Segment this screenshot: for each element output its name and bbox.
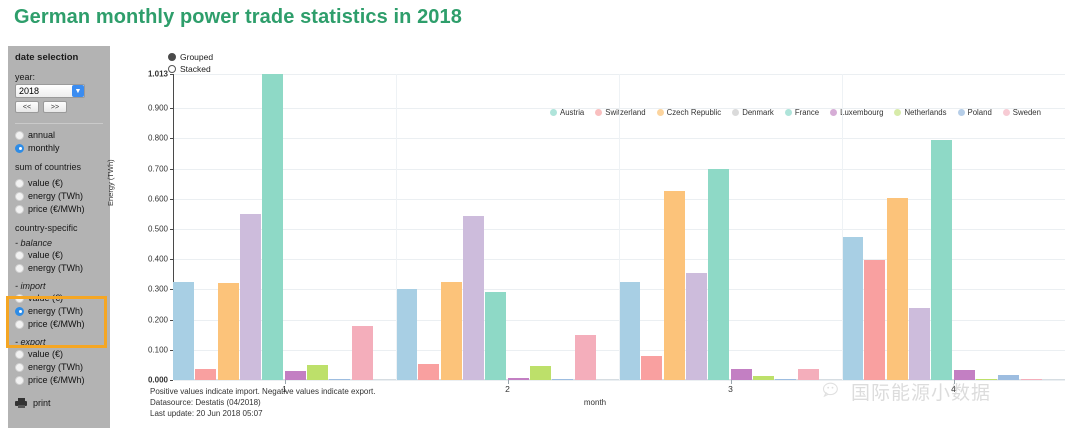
- bar-sweden-m4[interactable]: [1021, 379, 1042, 380]
- y-tick-label: 0.600: [148, 194, 168, 203]
- balance-subtitle: - balance: [15, 238, 103, 248]
- bar-czech-republic-m3[interactable]: [664, 191, 685, 380]
- wechat-icon: [822, 382, 844, 401]
- year-label: year:: [15, 72, 103, 82]
- radio-label: Stacked: [180, 64, 211, 74]
- radio-import-energy[interactable]: energy (TWh): [15, 305, 103, 317]
- radio-icon-selected: [168, 53, 176, 61]
- bar-austria-m4[interactable]: [842, 237, 863, 380]
- radio-sum-energy[interactable]: energy (TWh): [15, 190, 103, 202]
- bar-poland-m1[interactable]: [329, 379, 350, 380]
- radio-label: price (€/MWh): [28, 319, 85, 329]
- x-tick-label: 3: [728, 384, 733, 394]
- bar-group-month-3: 3: [619, 74, 842, 380]
- printer-icon: [15, 398, 27, 408]
- radio-label: price (€/MWh): [28, 204, 85, 214]
- bar-switzerland-m1[interactable]: [195, 369, 216, 380]
- bar-sweden-m2[interactable]: [575, 335, 596, 380]
- bar-poland-m4[interactable]: [998, 375, 1019, 380]
- year-select-wrapper[interactable]: 2018201720162015 ▼: [15, 84, 85, 98]
- radio-sum-value[interactable]: value (€): [15, 177, 103, 189]
- radio-icon-selected: [15, 307, 24, 316]
- y-tick-label: 0.800: [148, 134, 168, 143]
- radio-label: energy (TWh): [28, 306, 83, 316]
- radio-monthly[interactable]: monthly: [15, 142, 103, 154]
- bar-netherlands-m2[interactable]: [530, 366, 551, 380]
- chart-footnotes: Positive values indicate import. Negativ…: [150, 386, 375, 419]
- bar-sweden-m1[interactable]: [352, 326, 373, 380]
- bar-luxembourg-m3[interactable]: [731, 369, 752, 380]
- y-tick-label: 0.000: [148, 376, 168, 385]
- bar-denmark-m3[interactable]: [686, 273, 707, 380]
- bar-austria-m3[interactable]: [619, 282, 640, 380]
- y-tick-mark: [170, 380, 173, 381]
- date-selection-sidebar: date selection year: 2018201720162015 ▼ …: [8, 46, 110, 428]
- import-subtitle: - import: [15, 281, 103, 291]
- bar-france-m2[interactable]: [485, 292, 506, 380]
- radio-icon: [15, 363, 24, 372]
- bar-czech-republic-m1[interactable]: [218, 283, 239, 380]
- divider: [15, 123, 103, 124]
- export-subtitle: - export: [15, 337, 103, 347]
- bar-switzerland-m2[interactable]: [418, 364, 439, 380]
- radio-icon: [15, 376, 24, 385]
- bar-luxembourg-m2[interactable]: [508, 378, 529, 380]
- y-tick-label: 0.200: [148, 315, 168, 324]
- page-title: German monthly power trade statistics in…: [14, 6, 462, 29]
- radio-label: value (€): [28, 349, 63, 359]
- bar-sweden-m3[interactable]: [798, 369, 819, 380]
- watermark-text: 国际能源小数据: [851, 378, 991, 405]
- x-tick-label: 2: [505, 384, 510, 394]
- bar-group-month-4: 4: [842, 74, 1065, 380]
- y-tick-label: 0.100: [148, 345, 168, 354]
- sidebar-title: date selection: [15, 52, 103, 63]
- radio-label: price (€/MWh): [28, 375, 85, 385]
- radio-icon: [15, 179, 24, 188]
- radio-balance-energy[interactable]: energy (TWh): [15, 262, 103, 274]
- radio-icon: [168, 65, 176, 73]
- year-select[interactable]: 2018201720162015: [15, 84, 85, 98]
- radio-label: value (€): [28, 293, 63, 303]
- prev-year-button[interactable]: <<: [15, 101, 39, 113]
- radio-label: monthly: [28, 143, 60, 153]
- radio-icon: [15, 264, 24, 273]
- radio-label: energy (TWh): [28, 362, 83, 372]
- bar-netherlands-m3[interactable]: [753, 376, 774, 380]
- radio-icon-selected: [15, 144, 24, 153]
- y-axis-label: Energy (TWh): [106, 159, 115, 206]
- radio-label: value (€): [28, 250, 63, 260]
- radio-icon: [15, 294, 24, 303]
- radio-label: annual: [28, 130, 55, 140]
- radio-export-value[interactable]: value (€): [15, 348, 103, 360]
- radio-icon: [15, 251, 24, 260]
- radio-balance-value[interactable]: value (€): [15, 249, 103, 261]
- radio-sum-price[interactable]: price (€/MWh): [15, 203, 103, 215]
- bar-denmark-m2[interactable]: [463, 216, 484, 380]
- balance-radio-group: value (€) energy (TWh): [15, 249, 103, 274]
- chart-mode-radio-group: Grouped Stacked: [168, 51, 213, 75]
- export-radio-group: value (€) energy (TWh) price (€/MWh): [15, 348, 103, 386]
- bar-austria-m2[interactable]: [396, 289, 417, 380]
- x-gridline: [842, 74, 843, 380]
- print-label: print: [33, 398, 51, 408]
- y-tick-label: 0.300: [148, 285, 168, 294]
- bar-group-month-1: 1: [173, 74, 396, 380]
- radio-icon: [15, 320, 24, 329]
- radio-import-price[interactable]: price (€/MWh): [15, 318, 103, 330]
- import-radio-group: value (€) energy (TWh) price (€/MWh): [15, 292, 103, 330]
- radio-icon: [15, 131, 24, 140]
- radio-label: energy (TWh): [28, 263, 83, 273]
- y-tick-label: 1.013: [148, 70, 168, 79]
- bar-czech-republic-m4[interactable]: [887, 198, 908, 380]
- print-button[interactable]: print: [15, 398, 103, 408]
- bar-france-m4[interactable]: [931, 140, 952, 380]
- radio-import-value[interactable]: value (€): [15, 292, 103, 304]
- bar-poland-m2[interactable]: [552, 379, 573, 380]
- bar-denmark-m4[interactable]: [909, 308, 930, 380]
- bar-switzerland-m3[interactable]: [641, 356, 662, 380]
- bar-denmark-m1[interactable]: [240, 214, 261, 380]
- y-tick-label: 0.700: [148, 164, 168, 173]
- radio-icon: [15, 350, 24, 359]
- period-radio-group: annual monthly: [15, 129, 103, 154]
- x-gridline: [396, 74, 397, 380]
- bar-france-m1[interactable]: [262, 74, 283, 380]
- year-nav-row: << >>: [15, 101, 103, 113]
- plot-area: 0.0000.1000.2000.3000.4000.5000.6000.700…: [173, 74, 1065, 380]
- bar-austria-m1[interactable]: [173, 282, 194, 380]
- bar-poland-m3[interactable]: [775, 379, 796, 380]
- radio-export-energy[interactable]: energy (TWh): [15, 361, 103, 373]
- x-gridline: [619, 74, 620, 380]
- footnote-line-2: Datasource: Destatis (04/2018): [150, 397, 375, 408]
- country-specific-title: country-specific: [15, 223, 103, 233]
- radio-icon: [15, 205, 24, 214]
- radio-annual[interactable]: annual: [15, 129, 103, 141]
- radio-label: value (€): [28, 178, 63, 188]
- y-tick-label: 0.400: [148, 255, 168, 264]
- radio-icon: [15, 192, 24, 201]
- bar-group-month-2: 2: [396, 74, 619, 380]
- bar-netherlands-m1[interactable]: [307, 365, 328, 380]
- bar-switzerland-m4[interactable]: [864, 260, 885, 380]
- footnote-line-3: Last update: 20 Jun 2018 05:07: [150, 408, 375, 419]
- radio-export-price[interactable]: price (€/MWh): [15, 374, 103, 386]
- radio-label: Grouped: [180, 52, 213, 62]
- radio-label: energy (TWh): [28, 191, 83, 201]
- bar-france-m3[interactable]: [708, 169, 729, 380]
- next-year-button[interactable]: >>: [43, 101, 67, 113]
- sum-radio-group: value (€) energy (TWh) price (€/MWh): [15, 177, 103, 215]
- radio-grouped[interactable]: Grouped: [168, 51, 213, 63]
- watermark: 国际能源小数据: [822, 378, 991, 405]
- chart-container: Grouped Stacked AustriaSwitzerlandCzech …: [110, 46, 1080, 428]
- bar-luxembourg-m1[interactable]: [285, 371, 306, 380]
- bar-czech-republic-m2[interactable]: [441, 282, 462, 380]
- y-tick-label: 0.900: [148, 104, 168, 113]
- footnote-line-1: Positive values indicate import. Negativ…: [150, 386, 375, 397]
- sum-of-countries-title: sum of countries: [15, 162, 103, 172]
- y-tick-label: 0.500: [148, 224, 168, 233]
- plot-inner: 0.0000.1000.2000.3000.4000.5000.6000.700…: [173, 74, 1065, 380]
